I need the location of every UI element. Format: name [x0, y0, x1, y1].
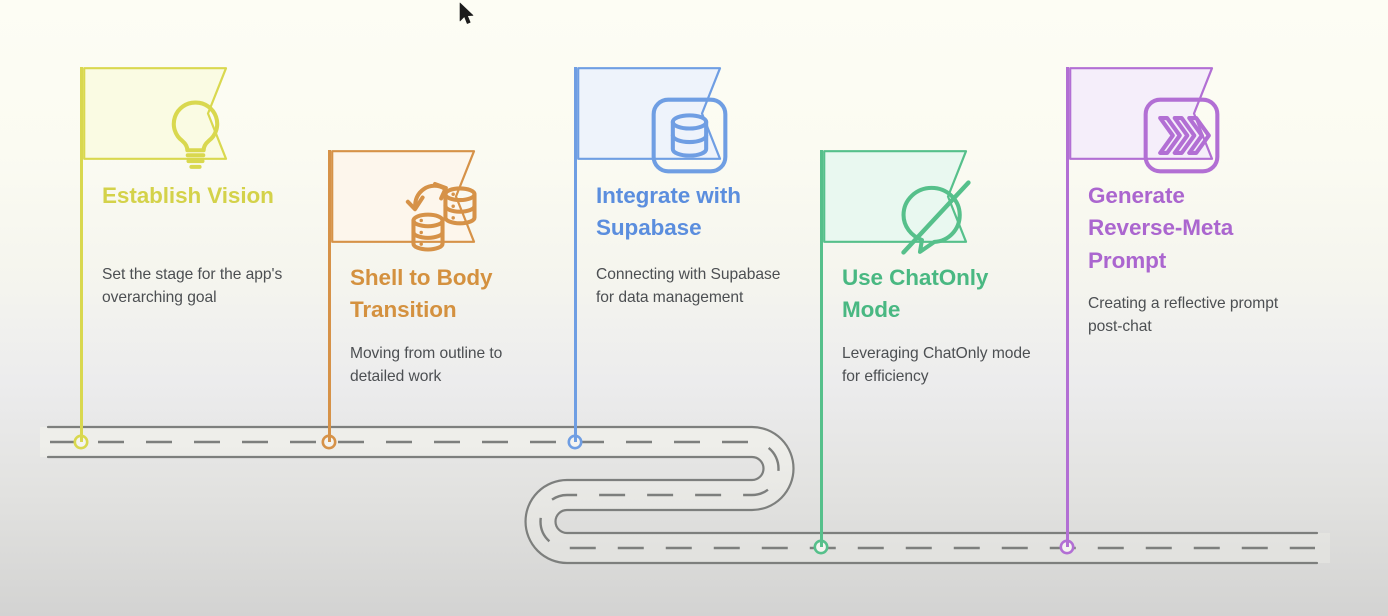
milestone-title: Generate Reverse-Meta Prompt: [1088, 180, 1270, 277]
milestone-flag[interactable]: [577, 67, 722, 160]
fast-forward-chevrons-icon: [1109, 89, 1157, 137]
milestone-establish-vision[interactable]: Establish VisionSet the stage for the ap…: [80, 67, 310, 462]
milestone-title: Use ChatOnly Mode: [842, 262, 1024, 327]
database-migration-icon: [371, 172, 419, 220]
roadmap-diagram: Establish VisionSet the stage for the ap…: [0, 0, 1388, 616]
milestone-flag[interactable]: [83, 67, 228, 160]
milestone-generate-reverse-meta-prompt[interactable]: Generate Reverse-Meta PromptCreating a r…: [1066, 67, 1296, 567]
milestone-description: Leveraging ChatOnly mode for efficiency: [842, 343, 1038, 389]
milestone-shell-to-body-transition[interactable]: Shell to Body TransitionMoving from outl…: [328, 150, 558, 462]
milestone-description: Set the stage for the app's overarching …: [102, 264, 298, 310]
milestone-title: Establish Vision: [102, 180, 284, 212]
milestone-description: Creating a reflective prompt post-chat: [1088, 293, 1284, 339]
milestone-use-chatonly-mode[interactable]: Use ChatOnly ModeLeveraging ChatOnly mod…: [820, 150, 1050, 567]
milestone-integrate-with-supabase[interactable]: Integrate with SupabaseConnecting with S…: [574, 67, 804, 462]
milestone-title: Integrate with Supabase: [596, 180, 778, 245]
milestone-description: Moving from outline to detailed work: [350, 343, 546, 389]
chat-bubble-slash-icon: [863, 172, 911, 220]
lightbulb-icon: [123, 89, 171, 137]
database-cylinder-icon: [617, 89, 665, 137]
milestone-flag[interactable]: [331, 150, 476, 243]
milestone-title: Shell to Body Transition: [350, 262, 532, 327]
milestone-description: Connecting with Supabase for data manage…: [596, 264, 792, 310]
milestone-flag[interactable]: [823, 150, 968, 243]
milestone-flag[interactable]: [1069, 67, 1214, 160]
